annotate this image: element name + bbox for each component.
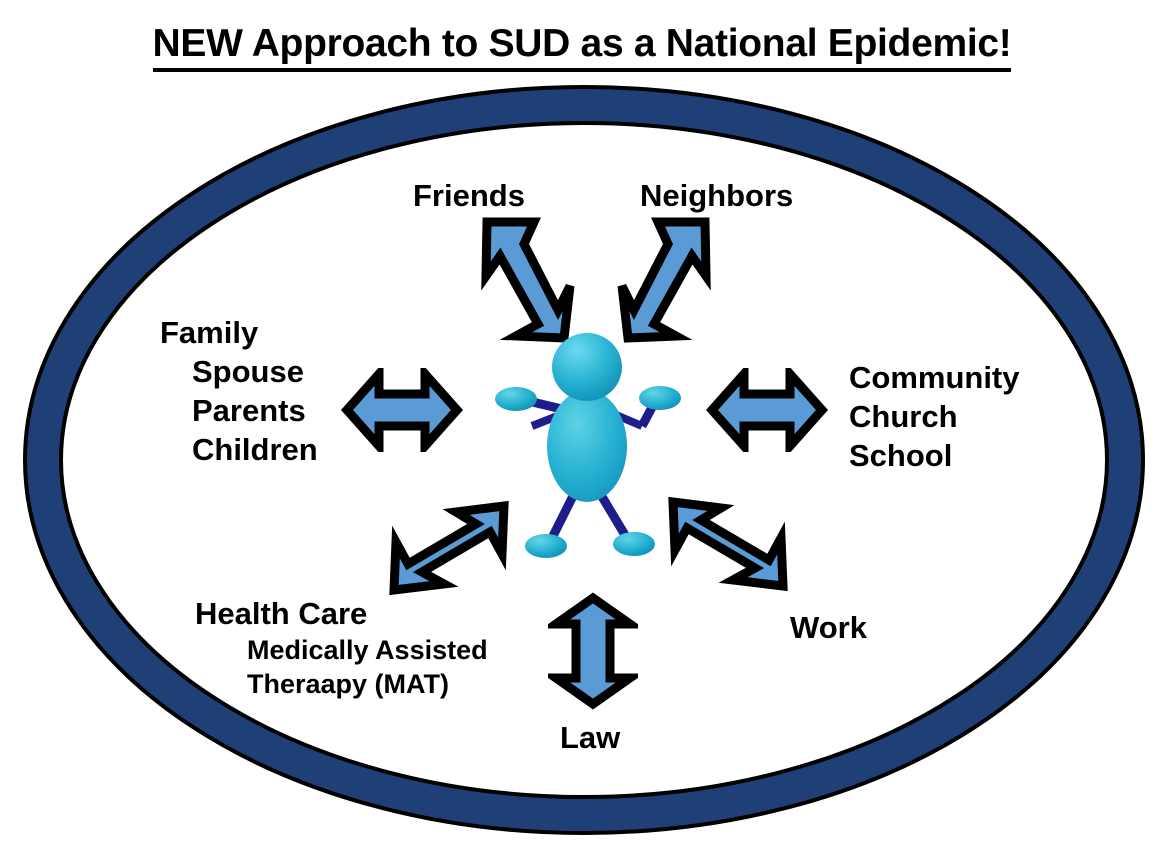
- label-community-group: Community Church School: [849, 358, 1020, 475]
- label-law: Law: [560, 718, 620, 757]
- figure-foot-left: [525, 534, 567, 558]
- stick-figure-person: [494, 330, 686, 562]
- label-family-group: Family Spouse Parents Children: [160, 313, 318, 469]
- figure-hand-right: [639, 386, 681, 410]
- label-health-care-sub2: Theraapy (MAT): [195, 667, 488, 701]
- arrow-neighbors: [617, 214, 752, 346]
- figure-torso: [547, 390, 627, 502]
- arrow-community: [706, 368, 828, 452]
- label-community-church: Church: [849, 399, 958, 434]
- label-community: Community: [849, 360, 1020, 395]
- label-family-spouse: Spouse: [160, 352, 318, 391]
- arrow-friends: [440, 214, 575, 346]
- arrow-family: [341, 368, 463, 452]
- label-work: Work: [790, 608, 867, 647]
- label-neighbors: Neighbors: [640, 176, 793, 215]
- arrow-law: [548, 592, 638, 710]
- figure-head: [552, 333, 622, 401]
- label-health-care-group: Health Care Medically Assisted Theraapy …: [195, 594, 488, 701]
- label-health-care-sub1: Medically Assisted: [195, 633, 488, 667]
- label-community-school: School: [849, 438, 952, 473]
- label-family: Family: [160, 315, 258, 350]
- label-family-children: Children: [160, 430, 318, 469]
- label-health-care: Health Care: [195, 596, 367, 631]
- figure-foot-right: [613, 532, 655, 556]
- label-friends: Friends: [413, 176, 525, 215]
- figure-hand-left: [495, 387, 537, 411]
- slide-canvas: NEW Approach to SUD as a National Epidem…: [0, 0, 1164, 867]
- label-family-parents: Parents: [160, 391, 318, 430]
